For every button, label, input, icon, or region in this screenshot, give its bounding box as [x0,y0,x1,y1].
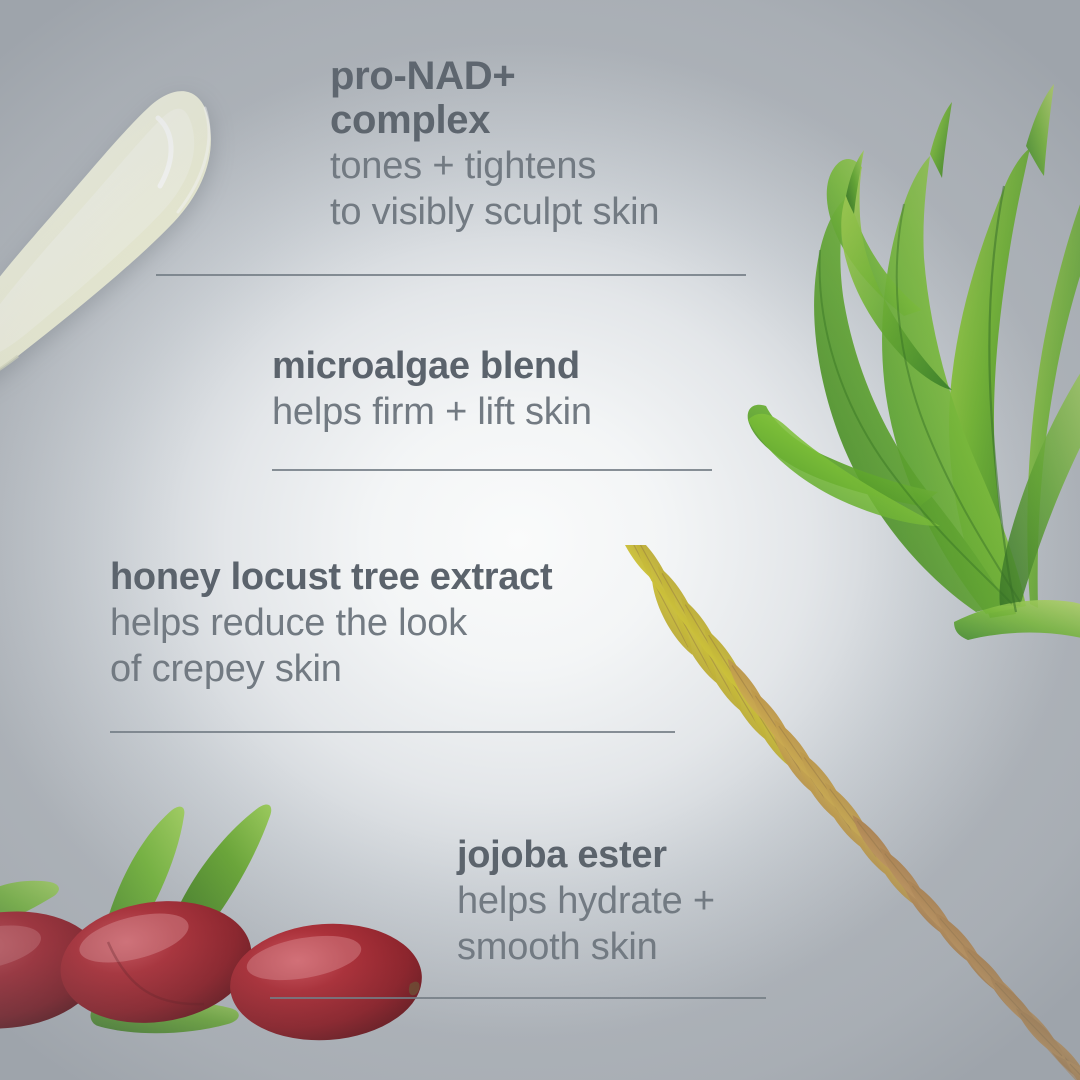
ingredient-block-jojoba-ester: jojoba ester helps hydrate + smooth skin [457,834,715,970]
ingredient-name-line-1: honey locust tree extract [110,556,552,598]
honey-locust-frond-image [600,545,1080,1080]
ingredient-block-pro-nad-complex: pro-NAD+ complex tones + tightens to vis… [330,54,659,236]
ingredient-benefit-line-2: to visibly sculpt skin [330,191,659,233]
ingredient-block-honey-locust-tree-extract: honey locust tree extract helps reduce t… [110,556,552,692]
infographic-canvas: pro-NAD+ complex tones + tightens to vis… [0,0,1080,1080]
divider-rule-4 [270,997,766,999]
ingredient-name-line-1: pro-NAD+ [330,54,515,98]
ingredient-name: jojoba ester [457,834,715,877]
cream-swatch-image [0,46,222,391]
ingredient-name: pro-NAD+ complex [330,54,659,142]
ingredient-name: honey locust tree extract [110,556,552,599]
jojoba-berries-image [0,792,468,1080]
ingredient-benefit-line-1: tones + tightens [330,145,596,187]
ingredient-benefit-line-1: helps reduce the look [110,602,467,644]
ingredient-benefit: helps reduce the look of crepey skin [110,601,552,693]
ingredient-benefit-line-1: helps firm + lift skin [272,391,592,433]
ingredient-benefit: helps hydrate + smooth skin [457,879,715,971]
ingredient-name-line-1: microalgae blend [272,345,580,387]
ingredient-benefit-line-2: of crepey skin [110,648,342,690]
ingredient-name: microalgae blend [272,345,592,388]
divider-rule-3 [110,731,675,733]
divider-rule-2 [272,469,712,471]
ingredient-benefit-line-1: helps hydrate + [457,880,715,922]
ingredient-block-microalgae-blend: microalgae blend helps firm + lift skin [272,345,592,436]
ingredient-benefit: helps firm + lift skin [272,390,592,436]
divider-rule-1 [156,274,746,276]
ingredient-benefit-line-2: smooth skin [457,926,658,968]
ingredient-name-line-2: complex [330,98,490,142]
ingredient-benefit: tones + tightens to visibly sculpt skin [330,144,659,236]
ingredient-name-line-1: jojoba ester [457,834,667,876]
